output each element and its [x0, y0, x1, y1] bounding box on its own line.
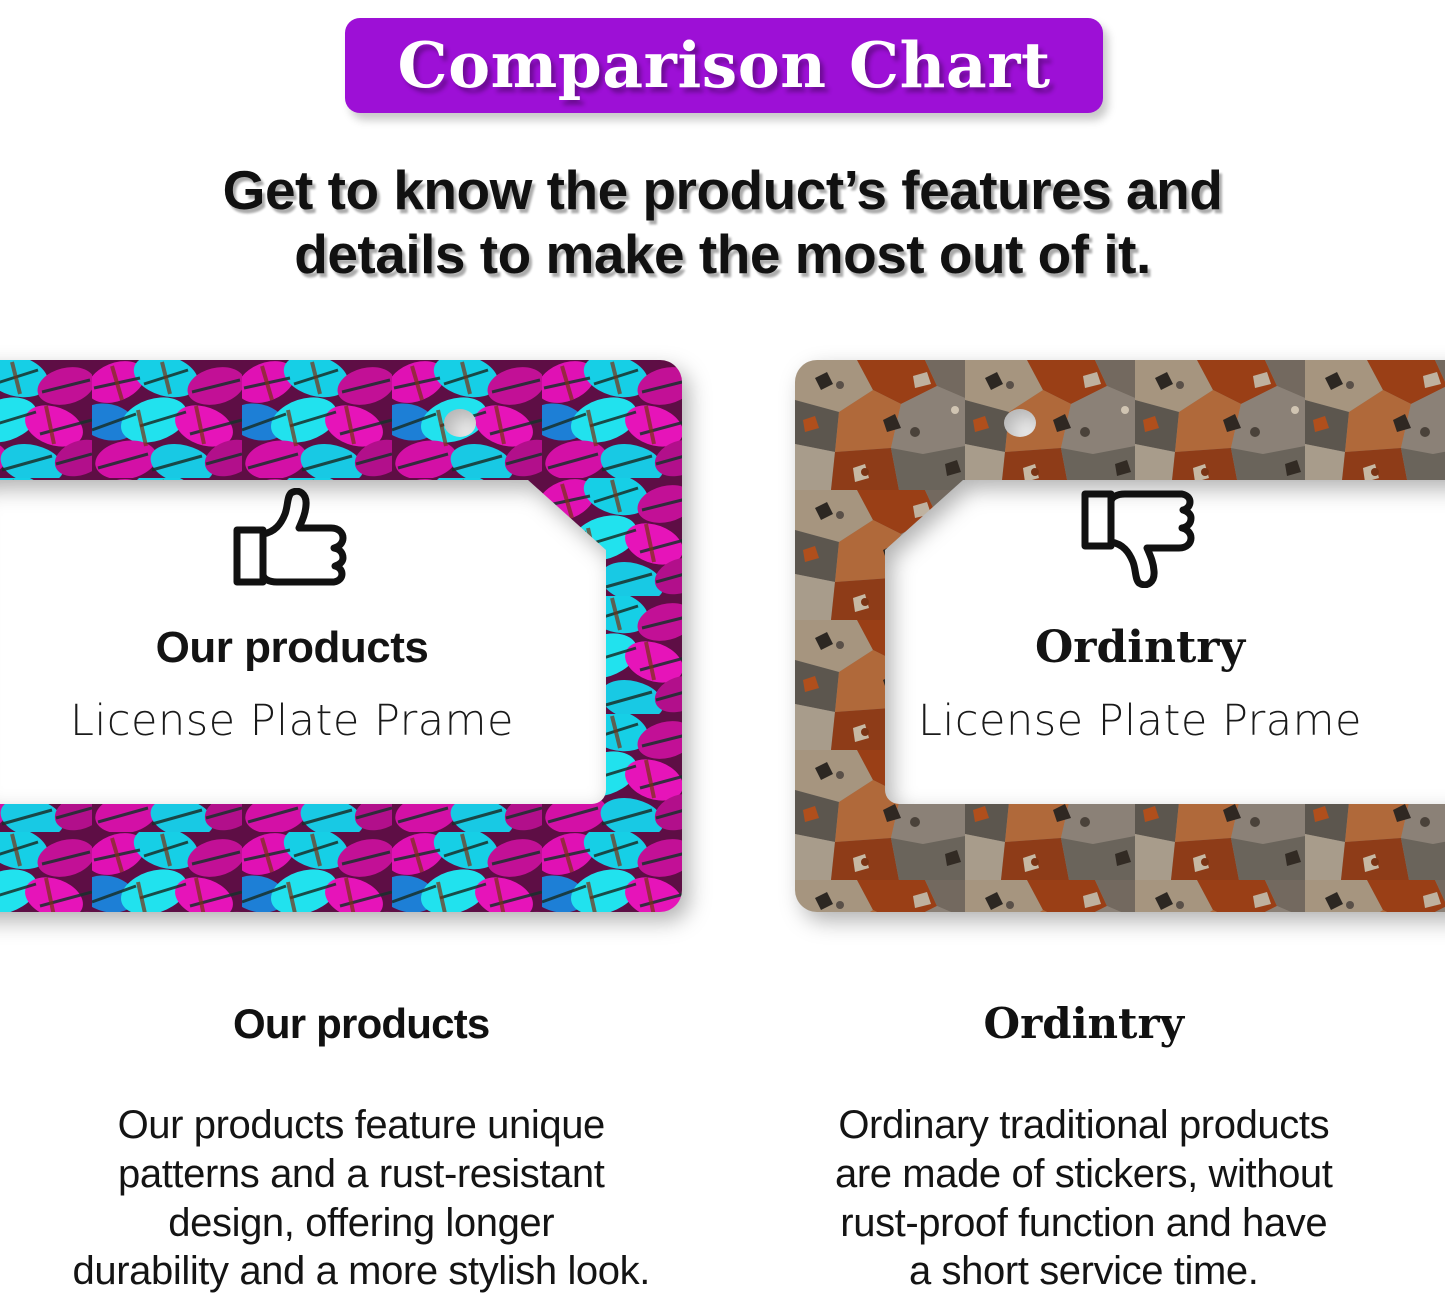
bottom-body-ordinary: Ordinary traditional products are made o… [754, 1101, 1414, 1296]
body-line: patterns and a rust-resistant [31, 1150, 691, 1199]
card-content-ours: Our products License Plate Prame [12, 360, 572, 920]
body-line: Ordinary traditional products [754, 1101, 1414, 1150]
bottom-heading-ordinary: Ordintry [983, 1003, 1184, 1045]
comparison-column-ours: Our products Our products feature unique… [0, 995, 723, 1314]
thumbs-up-icon [233, 488, 351, 588]
title-banner: Comparison Chart [345, 18, 1103, 113]
page-subtitle: Get to know the product’s features and d… [0, 158, 1445, 287]
bottom-body-ours: Our products feature unique patterns and… [31, 1101, 691, 1296]
card-subtitle-ordinary: License Plate Prame [918, 700, 1362, 743]
subtitle-line-2: details to make the most out of it. [0, 222, 1445, 286]
body-line: Our products feature unique [31, 1101, 691, 1150]
product-frames-row: Our products License Plate Prame Ordintr… [0, 360, 1445, 920]
card-subtitle-ours: License Plate Prame [70, 700, 514, 743]
body-line: a short service time. [754, 1247, 1414, 1296]
card-title-ours: Our products [156, 626, 429, 670]
page-title: Comparison Chart [397, 34, 1050, 97]
card-content-ordinary: Ordintry License Plate Prame [860, 360, 1420, 920]
body-line: durability and a more stylish look. [31, 1247, 691, 1296]
body-line: rust-proof function and have [754, 1199, 1414, 1248]
body-line: design, offering longer [31, 1199, 691, 1248]
comparison-column-ordinary: Ordintry Ordinary traditional products a… [723, 995, 1445, 1314]
bottom-heading-ours: Our products [233, 1003, 489, 1045]
subtitle-line-1: Get to know the product’s features and [0, 158, 1445, 222]
comparison-descriptions: Our products Our products feature unique… [0, 995, 1445, 1314]
body-line: are made of stickers, without [754, 1150, 1414, 1199]
card-title-ordinary: Ordintry [1035, 626, 1245, 670]
thumbs-down-icon [1081, 488, 1199, 588]
